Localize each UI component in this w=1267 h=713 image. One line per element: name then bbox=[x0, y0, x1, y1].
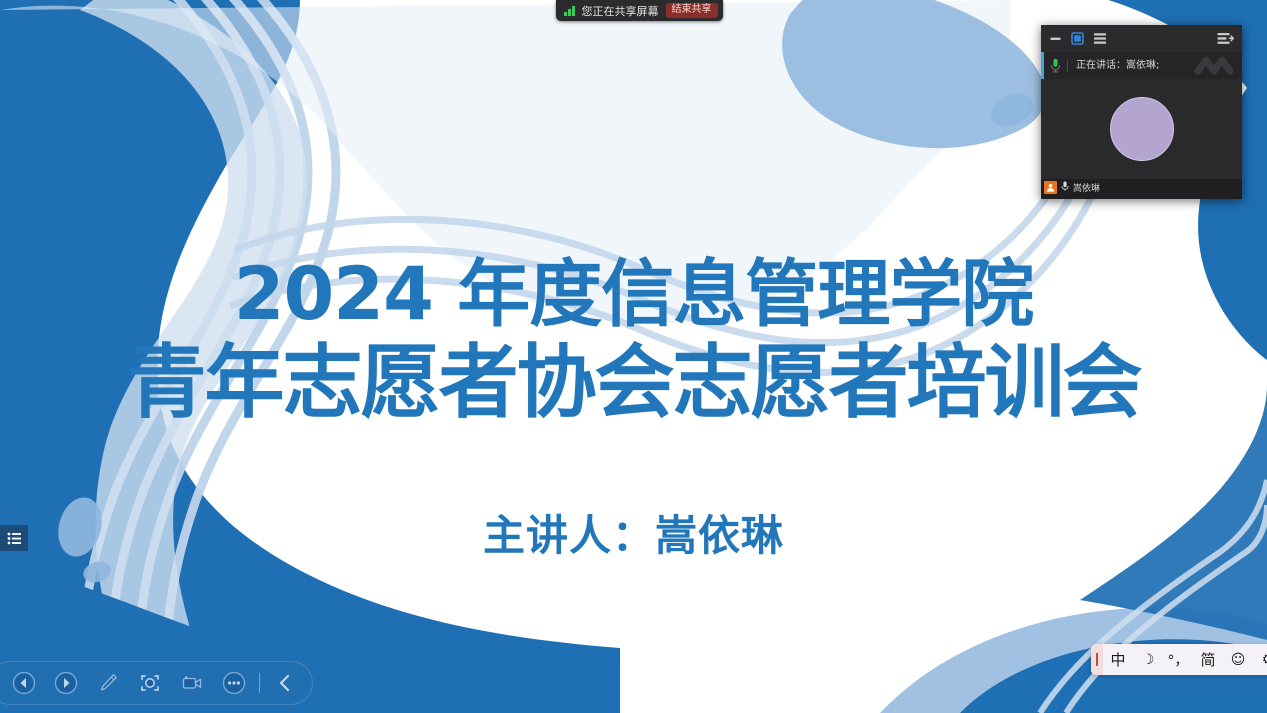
pen-icon bbox=[96, 671, 120, 695]
audio-wave-icon bbox=[1194, 56, 1238, 75]
signal-bars-icon bbox=[564, 5, 575, 16]
next-slide-button[interactable] bbox=[53, 670, 79, 696]
spotlight-focus-icon bbox=[138, 671, 162, 695]
ime-cursor-indicator[interactable] bbox=[1091, 644, 1103, 675]
spotlight-button[interactable] bbox=[137, 670, 163, 696]
stop-share-button[interactable]: 结束共享 bbox=[666, 3, 718, 18]
zoom-active-speaker-bar: 正在讲话：嵩依琳; bbox=[1041, 52, 1242, 79]
ime-language-bar[interactable]: 中 ☽ °， 简 ☺ ⚙ bbox=[1091, 644, 1267, 675]
ime-moon-mode[interactable]: ☽ bbox=[1133, 644, 1163, 675]
screen-share-banner: 您正在共享屏幕 结束共享 bbox=[556, 0, 723, 21]
exit-minimized-view-icon[interactable] bbox=[1217, 32, 1234, 45]
ppt-presenter-toolbar[interactable] bbox=[0, 661, 313, 705]
slide-menu-tab[interactable] bbox=[0, 525, 28, 551]
nameplate-participant-name: 嵩依琳 bbox=[1073, 181, 1100, 194]
list-view-icon[interactable] bbox=[1093, 32, 1107, 45]
minimize-icon[interactable] bbox=[1049, 32, 1062, 45]
ime-settings-button[interactable]: ⚙ bbox=[1253, 644, 1267, 675]
active-speaker-text: 正在讲话：嵩依琳; bbox=[1067, 60, 1159, 72]
video-button[interactable] bbox=[179, 670, 205, 696]
collapse-toolbar-button[interactable] bbox=[272, 670, 298, 696]
avatar bbox=[1110, 97, 1174, 161]
toolbar-divider bbox=[259, 673, 260, 693]
zoom-participant-nameplate: 嵩依琳 bbox=[1041, 179, 1242, 195]
restore-window-icon[interactable] bbox=[1071, 32, 1084, 45]
slide-subtitle-presenter: 主讲人：嵩依琳 bbox=[0, 502, 1267, 563]
zoom-panel-titlebar[interactable] bbox=[1041, 25, 1242, 52]
previous-slide-button[interactable] bbox=[11, 670, 37, 696]
list-menu-icon bbox=[7, 532, 22, 545]
circle-right-arrow-icon bbox=[54, 671, 78, 695]
ime-emoji-button[interactable]: ☺ bbox=[1223, 644, 1253, 675]
share-status-text: 您正在共享屏幕 bbox=[582, 3, 659, 19]
video-camera-icon bbox=[180, 671, 204, 695]
ellipsis-circle-icon bbox=[222, 671, 246, 695]
participant-badge-icon bbox=[1044, 181, 1057, 194]
microphone-icon bbox=[1050, 58, 1061, 73]
ime-language-mode[interactable]: 中 bbox=[1103, 644, 1133, 675]
nameplate-microphone-icon bbox=[1061, 178, 1069, 196]
zoom-floating-video-panel[interactable]: 正在讲话：嵩依琳; 嵩依琳 bbox=[1041, 25, 1242, 199]
pen-tool-button[interactable] bbox=[95, 670, 121, 696]
zoom-video-tile[interactable] bbox=[1041, 79, 1242, 179]
circle-left-arrow-icon bbox=[12, 671, 36, 695]
chevron-left-icon bbox=[274, 672, 296, 694]
ime-simplified-mode[interactable]: 简 bbox=[1193, 644, 1223, 675]
ime-punctuation-mode[interactable]: °， bbox=[1163, 644, 1193, 675]
more-options-button[interactable] bbox=[221, 670, 247, 696]
